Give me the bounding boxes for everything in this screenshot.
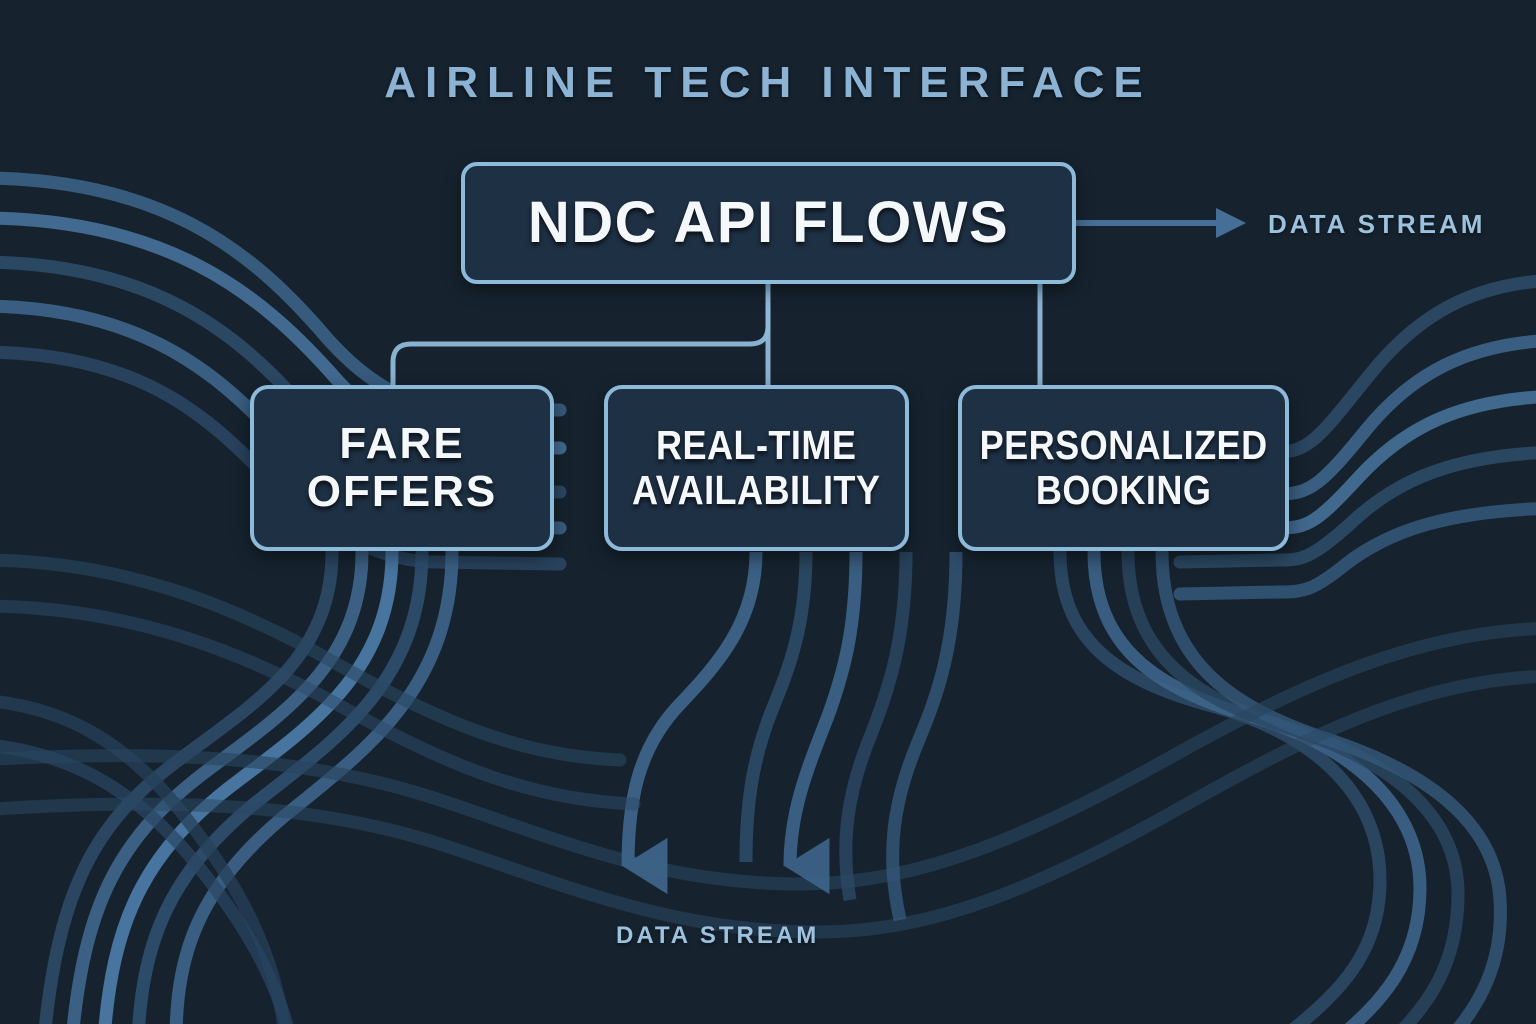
node-fare-offers[interactable]: FARE OFFERS	[250, 385, 554, 551]
data-stream-label-right: DATA STREAM	[1268, 209, 1485, 240]
node-personalized-booking[interactable]: PERSONALIZED BOOKING	[958, 385, 1289, 551]
node-real-time-availability[interactable]: REAL-TIME AVAILABILITY	[604, 385, 909, 551]
node-fare-offers-line2: OFFERS	[307, 467, 497, 516]
connector-root-to-fare	[393, 284, 768, 385]
node-ndc-api-flows-label: NDC API FLOWS	[518, 191, 1019, 255]
node-personalized-booking-line1: PERSONALIZED	[980, 422, 1268, 468]
data-stream-label-bottom: DATA STREAM	[616, 922, 819, 950]
page-title: AIRLINE TECH INTERFACE	[0, 58, 1536, 108]
node-fare-offers-label: FARE OFFERS	[297, 420, 507, 517]
node-personalized-booking-line2: BOOKING	[1036, 467, 1211, 513]
node-real-time-availability-label: REAL-TIME AVAILABILITY	[623, 423, 889, 513]
node-ndc-api-flows[interactable]: NDC API FLOWS	[461, 162, 1076, 284]
node-real-time-availability-line2: AVAILABILITY	[632, 467, 880, 513]
node-fare-offers-line1: FARE	[339, 419, 464, 468]
node-personalized-booking-label: PERSONALIZED BOOKING	[971, 423, 1277, 513]
node-real-time-availability-line1: REAL-TIME	[656, 422, 856, 468]
diagram-canvas: AIRLINE TECH INTERFACE NDC API FLOWS FAR…	[0, 0, 1536, 1024]
